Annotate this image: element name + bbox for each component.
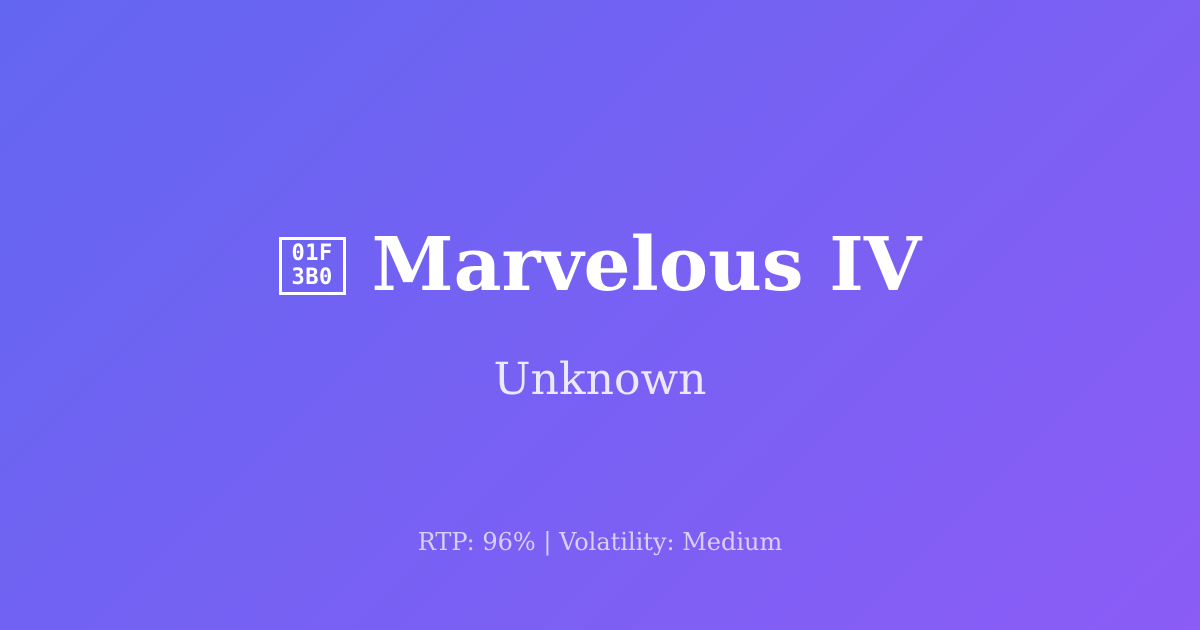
tofu-codepoint-row-lower: 3B0 xyxy=(292,266,333,290)
title-row: 01F 3B0 Marvelous IV xyxy=(279,228,922,302)
slot-machine-icon: 01F 3B0 xyxy=(279,237,346,295)
game-subtitle: Unknown xyxy=(494,358,707,402)
page-title: Marvelous IV xyxy=(372,228,922,302)
tofu-codepoint-row-upper: 01F xyxy=(292,242,333,266)
game-og-card: 01F 3B0 Marvelous IV Unknown RTP: 96% | … xyxy=(0,0,1200,630)
game-meta-line: RTP: 96% | Volatility: Medium xyxy=(0,530,1200,554)
